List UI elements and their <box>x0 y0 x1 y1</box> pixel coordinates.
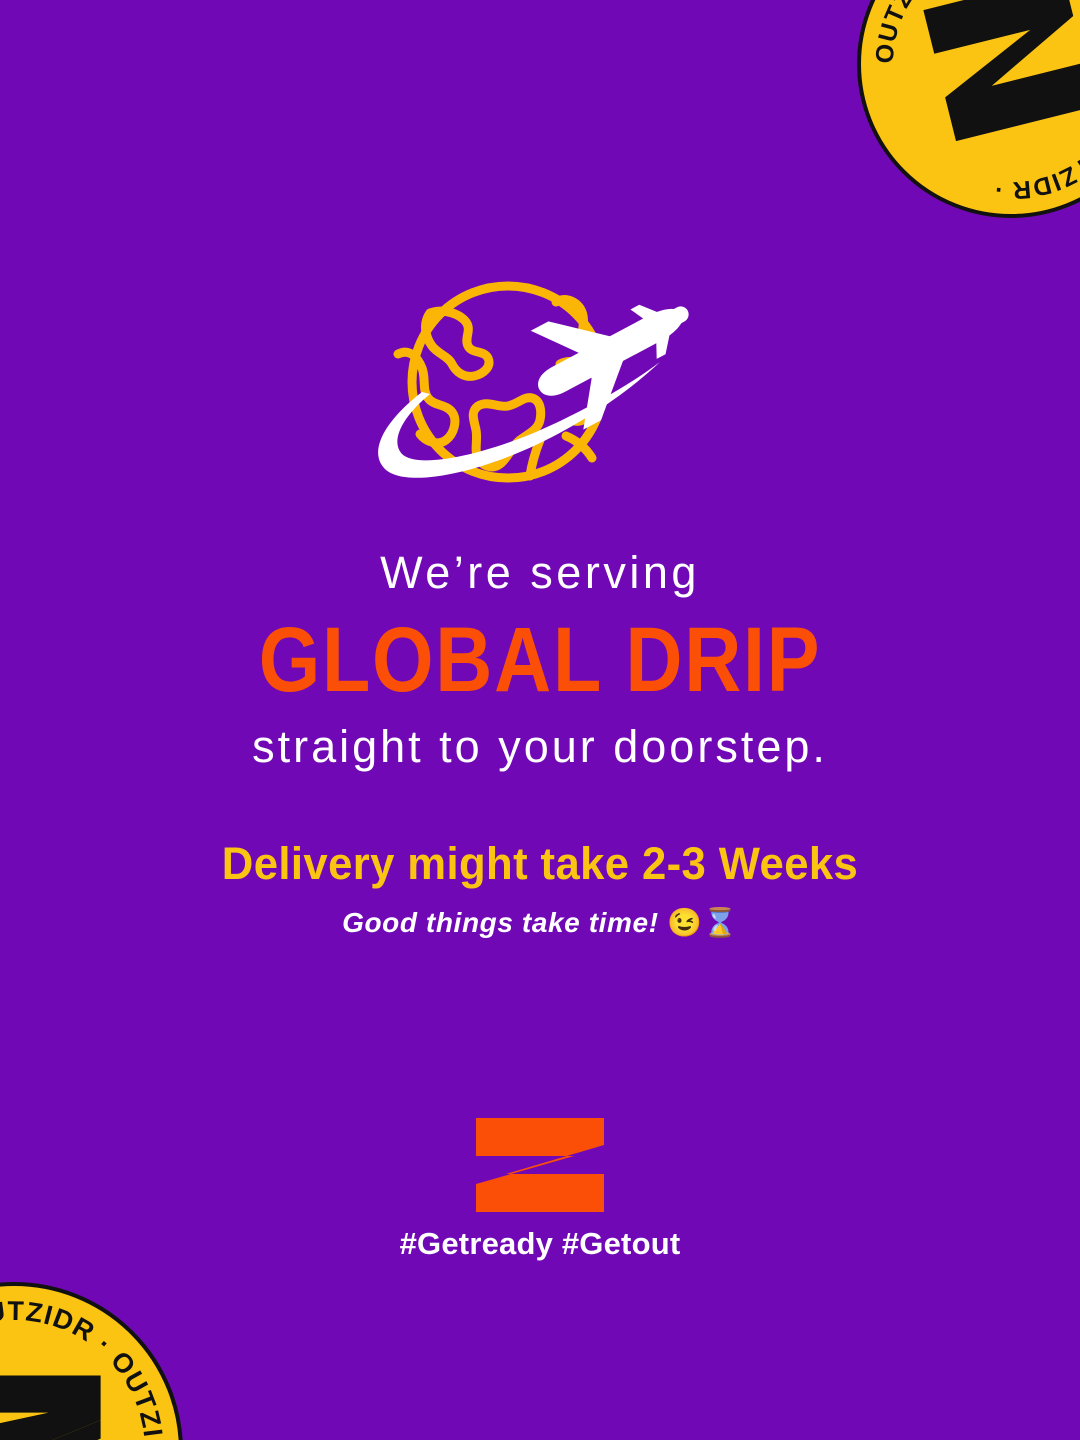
wink-and-hourglass-emoji: 😉⌛ <box>667 907 738 938</box>
poster-canvas: OUTZIDR · OUTZIDR · OUTZIDR · OUTZIDR · … <box>0 0 1080 1440</box>
reassurance-line: Good things take time! 😉⌛ <box>0 906 1080 939</box>
headline-line-doorstep: straight to your doorstep. <box>0 722 1080 772</box>
badge-top-right: OUTZIDR · OUTZIDR · OUTZIDR · OUTZIDR · <box>857 0 1080 218</box>
delivery-time-note: Delivery might take 2-3 Weeks <box>16 838 1064 890</box>
badge-bottom-left: OUTZIDR · OUTZIDR · OUTZIDR · OUTZIDR · … <box>0 1282 183 1440</box>
headline-global-drip: GLOBAL DRIP <box>76 612 1005 709</box>
headline-line-serving: We’re serving <box>0 548 1080 598</box>
main-copy-block: We’re serving GLOBAL DRIP straight to yo… <box>0 548 1080 939</box>
badge-z-mark-top-right <box>921 0 1080 154</box>
hashtags-line: #Getready #Getout <box>0 1226 1080 1262</box>
z-logo <box>476 1118 604 1212</box>
footer-brand-block: #Getready #Getout <box>0 1118 1080 1262</box>
reassurance-text: Good things take time! <box>342 907 667 938</box>
badge-z-mark-bottom-left: OUTZIDR <box>0 1352 113 1440</box>
globe-with-airplane-icon <box>360 278 720 510</box>
